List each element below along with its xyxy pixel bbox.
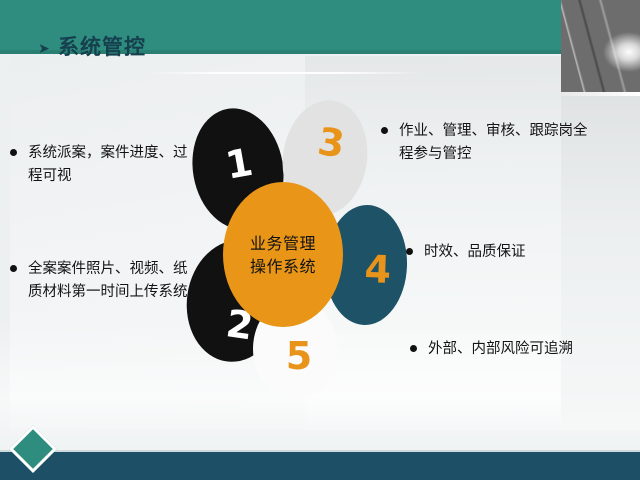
slide: ➤ 系统管控 1 3 2 4 5 业务管理 操作系统 系统派案，案件进度、过程可… — [0, 0, 640, 480]
bullet-dot-icon — [10, 265, 17, 272]
decorative-metal-photo-highlights — [561, 0, 640, 95]
petal-5-number: 5 — [257, 334, 341, 378]
bullet-right-1-text: 作业、管理、审核、跟踪岗全程参与管控 — [399, 120, 596, 166]
bullet-left-2-text: 全案案件照片、视频、纸质材料第一时间上传系统 — [28, 258, 195, 304]
bullet-left-1: 系统派案，案件进度、过程可视 — [10, 142, 190, 188]
bullet-right-3: 外部、内部风险可追溯 — [410, 338, 600, 361]
flower-diagram: 1 3 2 4 5 业务管理 操作系统 — [175, 100, 405, 400]
bullet-right-1: 作业、管理、审核、跟踪岗全程参与管控 — [381, 120, 596, 166]
bullet-right-2-text: 时效、品质保证 — [424, 241, 526, 264]
center-label-line-2: 操作系统 — [250, 255, 316, 278]
center-label-line-1: 业务管理 — [250, 232, 316, 255]
bullet-dot-icon — [381, 127, 388, 134]
page-title: 系统管控 — [58, 35, 146, 59]
arrow-right-triangle-icon: ➤ — [38, 41, 50, 55]
bullet-dot-icon — [10, 149, 17, 156]
footer-bar — [0, 452, 640, 480]
bullet-right-2: 时效、品质保证 — [406, 241, 606, 264]
bullet-left-1-text: 系统派案，案件进度、过程可视 — [28, 142, 190, 188]
petal-3-number: 3 — [287, 115, 376, 170]
title-underline — [150, 72, 422, 74]
bullet-dot-icon — [410, 345, 417, 352]
diagram-center[interactable]: 业务管理 操作系统 — [223, 182, 343, 327]
bullet-left-2: 全案案件照片、视频、纸质材料第一时间上传系统 — [10, 258, 195, 304]
bullet-right-3-text: 外部、内部风险可追溯 — [428, 338, 573, 361]
bullet-dot-icon — [406, 248, 413, 255]
